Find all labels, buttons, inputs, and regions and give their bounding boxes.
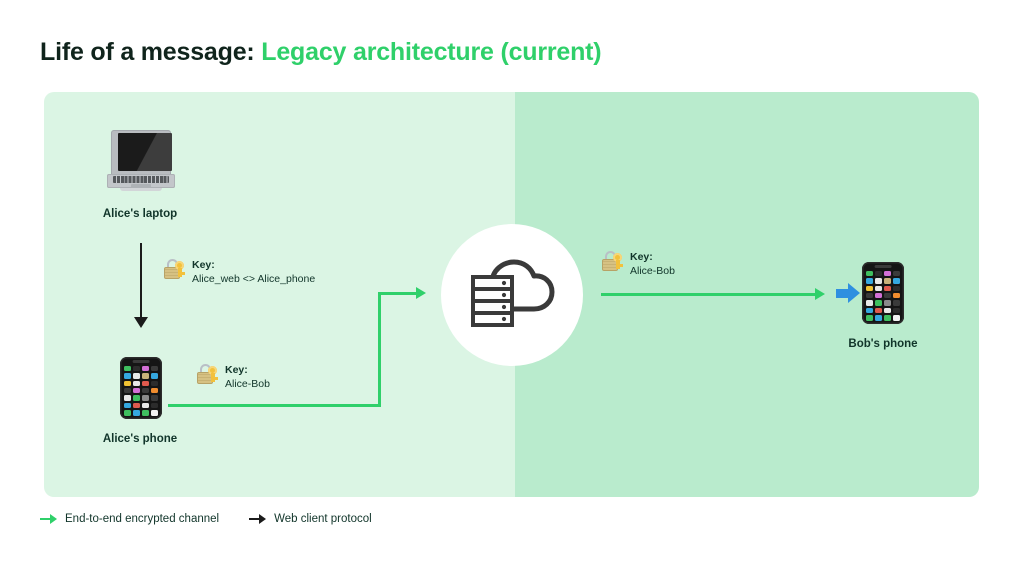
key-label: Key:	[630, 251, 675, 265]
cloud-server-icon	[441, 224, 583, 366]
phone-dock	[124, 410, 158, 416]
phone-app-grid	[866, 271, 900, 313]
legend-item-e2e: End-to-end encrypted channel	[40, 513, 219, 525]
legend-label: End-to-end encrypted channel	[65, 513, 219, 525]
phone-app-grid	[124, 366, 158, 408]
page-title-accent: Legacy architecture (current)	[261, 38, 601, 66]
phone-dock	[866, 315, 900, 321]
legend: End-to-end encrypted channel Web client …	[40, 513, 372, 525]
laptop-icon	[107, 130, 175, 192]
phone-icon	[120, 357, 162, 419]
bob-phone-label: Bob's phone	[813, 338, 953, 350]
padlock-key-icon	[196, 363, 218, 385]
phone-notch	[133, 360, 150, 363]
e2e-arrow-phone-to-server-segment-2	[378, 292, 381, 407]
e2e-arrow-phone-to-server-head	[416, 287, 426, 299]
legend-item-web: Web client protocol	[249, 513, 372, 525]
arrow-right-icon	[40, 514, 57, 524]
key-annotation-alice-bob-phone: Key: Alice-Bob	[196, 363, 270, 392]
laptop-lid	[111, 130, 171, 176]
web-protocol-arrow-head	[134, 317, 148, 328]
legend-label: Web client protocol	[274, 513, 372, 525]
phone-icon	[862, 262, 904, 324]
key-label: Key:	[225, 364, 270, 378]
key-annotation-alice-bob-server: Key: Alice-Bob	[601, 250, 675, 279]
alice-phone-label: Alice's phone	[70, 433, 210, 445]
padlock-key-icon	[163, 258, 185, 280]
laptop-foot	[120, 188, 162, 191]
phone-notch	[875, 265, 892, 268]
page-title-main: Life of a message:	[40, 38, 255, 66]
key-value: Alice_web <> Alice_phone	[192, 273, 315, 287]
diagram-canvas: Life of a message: Legacy architecture (…	[0, 0, 1024, 576]
key-annotation-alice-web-phone: Key: Alice_web <> Alice_phone	[163, 258, 315, 287]
delivery-arrow-icon	[836, 283, 860, 304]
e2e-arrow-server-to-bob-shaft	[601, 293, 817, 296]
cloud-server-glyph	[470, 257, 556, 335]
key-value: Alice-Bob	[225, 378, 270, 392]
key-value: Alice-Bob	[630, 265, 675, 279]
alice-laptop-label: Alice's laptop	[70, 208, 210, 220]
web-protocol-arrow-shaft	[140, 243, 142, 319]
laptop-screen	[118, 133, 172, 171]
e2e-arrow-phone-to-server-segment-3	[378, 292, 418, 295]
laptop-keyboard	[113, 176, 169, 183]
page-title: Life of a message: Legacy architecture (…	[40, 38, 601, 67]
e2e-arrow-server-to-bob-head	[815, 288, 825, 300]
key-label: Key:	[192, 259, 315, 273]
e2e-arrow-phone-to-server-segment-1	[168, 404, 381, 407]
padlock-key-icon	[601, 250, 623, 272]
arrow-right-icon	[249, 514, 266, 524]
